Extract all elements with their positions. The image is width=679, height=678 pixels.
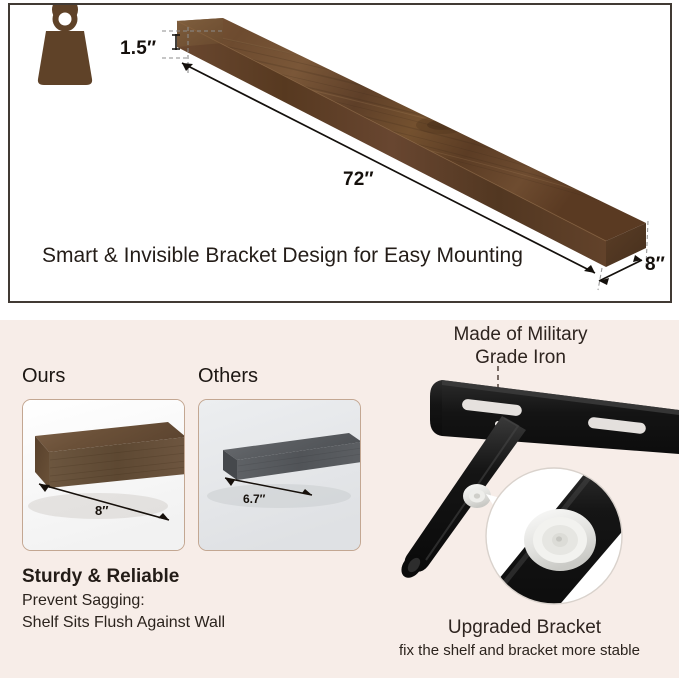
bracket-illustration [376,344,679,624]
mounting-plate [430,380,679,454]
dimension-length-label: 72″ [343,169,374,191]
weight-unit: LBS [56,201,126,214]
magnifier-lens [472,440,668,624]
bracket-material-label-line1: Made of Military [362,324,679,346]
comparison-title-ours: Ours [22,365,65,388]
benefit-line-2: Shelf Sits Flush Against Wall [22,614,225,632]
bottom-feature-section: Ours Others [0,320,679,678]
ours-dimension-text: 8″ [95,503,108,518]
ours-shelf-svg: 8″ [23,400,185,551]
panel-headline: Smart & Invisible Bracket Design for Eas… [42,241,562,271]
weight-badge-shape [38,5,92,85]
weight-value: 55 [56,174,126,201]
infographic-root: 55 LBS 1.5″ 72″ 8″ Smart & Invisible Bra… [0,0,679,678]
top-product-panel: 55 LBS 1.5″ 72″ 8″ Smart & Invisible Bra… [8,3,672,303]
benefit-heading: Sturdy & Reliable [22,566,179,588]
bracket-heading: Upgraded Bracket [370,617,679,639]
benefit-line-1: Prevent Sagging: [22,592,145,610]
bracket-subtext: fix the shelf and bracket more stable [360,642,679,659]
rod-screw-small [463,484,491,508]
comparison-title-others: Others [198,365,258,388]
comparison-card-others: 6.7″ [198,399,361,551]
dimension-thickness-label: 1.5″ [120,38,156,60]
dimension-depth-label: 8″ [645,254,665,276]
others-shelf-svg: 6.7″ [199,400,361,551]
weight-capacity-badge: 55 LBS [56,150,126,230]
comparison-card-ours: 8″ [22,399,185,551]
others-dimension-text: 6.7″ [243,492,266,506]
